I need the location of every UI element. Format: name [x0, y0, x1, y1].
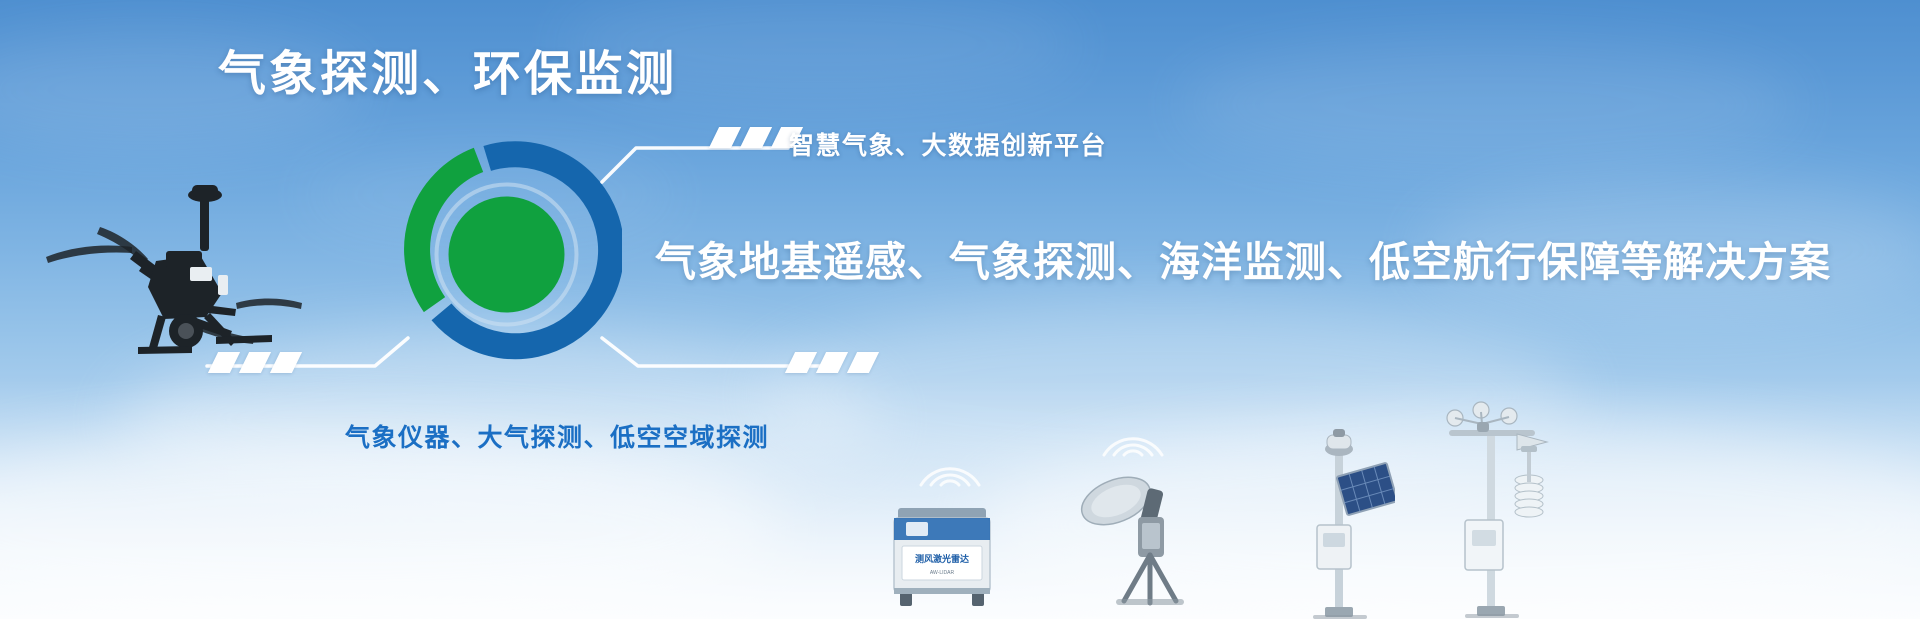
satellite-dish-icon: [1072, 467, 1190, 607]
hero-banner: 气象探测、环保监测: [0, 0, 1920, 619]
slanted-bars-icon: [790, 352, 874, 373]
callout-top-label: 智慧气象、大数据创新平台: [789, 126, 1107, 162]
slanted-bars-icon: [714, 127, 798, 148]
callout-main-label: 气象地基遥感、气象探测、海洋监测、低空航行保障等解决方案: [655, 228, 1831, 288]
cloud-decoration: [0, 430, 780, 619]
callout-bottom-label: 气象仪器、大气探测、低空空域探测: [345, 418, 769, 454]
page-title: 气象探测、环保监测: [218, 47, 677, 102]
slanted-bars-icon: [213, 352, 297, 373]
anemometer-weather-station-icon: [1425, 394, 1555, 619]
monitoring-cabinet-icon: 测风激光雷达 AW-LIDAR: [888, 494, 996, 609]
cloud-decoration: [1180, 40, 1800, 170]
svg-text:AW-LIDAR: AW-LIDAR: [930, 570, 955, 576]
signal-waves-icon: [915, 441, 985, 489]
donut-chart-icon: [391, 139, 622, 370]
connector-line-top: [600, 128, 790, 184]
solar-weather-station-icon: [1283, 429, 1395, 619]
connector-line-bottom-right: [600, 336, 840, 384]
signal-waves-icon: [1098, 411, 1168, 459]
drone-icon: [40, 155, 305, 355]
svg-text:测风激光雷达: 测风激光雷达: [915, 553, 969, 564]
